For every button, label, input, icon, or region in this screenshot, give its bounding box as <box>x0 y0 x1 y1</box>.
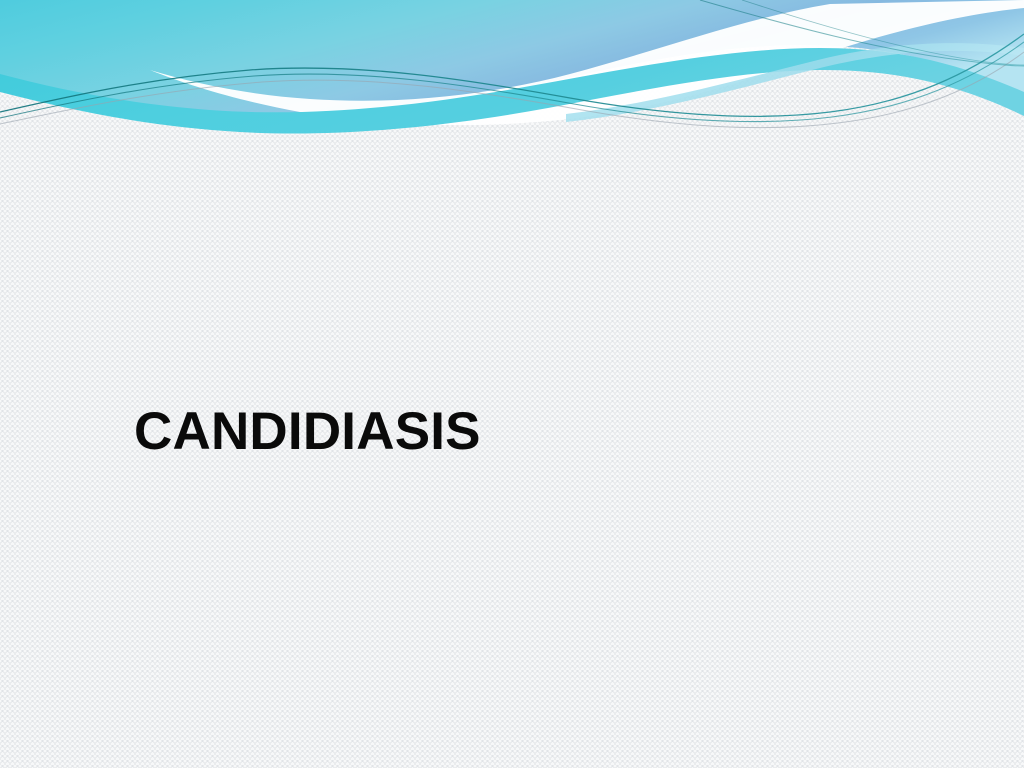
wave-band-pale <box>566 43 1024 122</box>
wave-filament-line-2 <box>0 42 1024 122</box>
wave-filament-line-3 <box>0 52 1024 128</box>
wave-band-primary <box>0 0 1024 118</box>
wave-filament-line-4 <box>700 0 1024 66</box>
presentation-slide: CANDIDIASIS <box>0 0 1024 768</box>
wave-white-swoosh <box>150 0 1024 125</box>
title-placeholder[interactable]: CANDIDIASIS <box>134 404 894 460</box>
page-title[interactable]: CANDIDIASIS <box>134 404 894 460</box>
slide-background-texture <box>0 0 1024 768</box>
wave-filament-line-5 <box>742 0 1024 65</box>
wave-filament-line-1 <box>0 34 1024 116</box>
wisp-wave-banner-decoration <box>0 0 1024 140</box>
wave-band-secondary <box>0 48 1024 134</box>
